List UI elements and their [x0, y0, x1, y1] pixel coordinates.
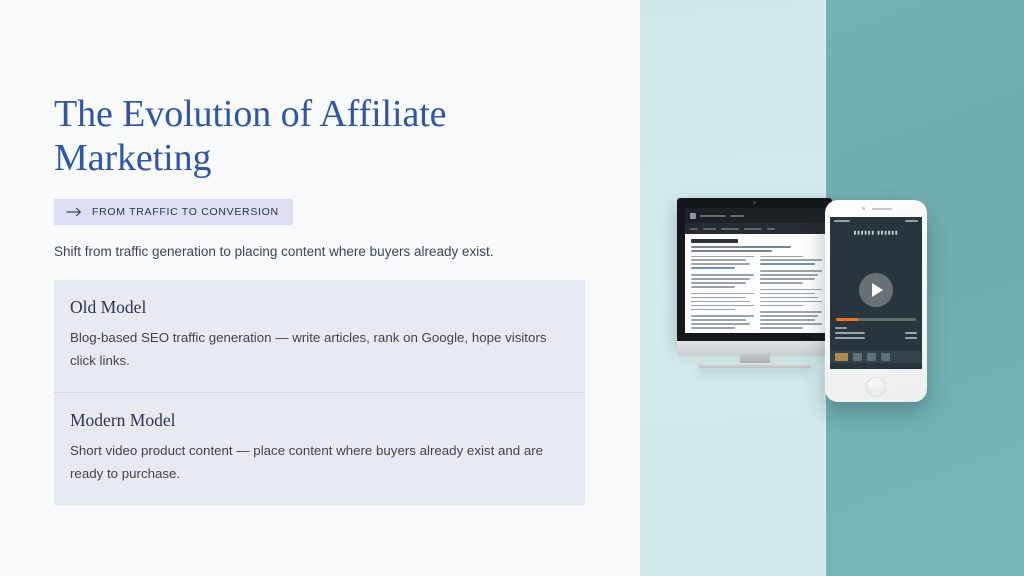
subnav-item — [703, 228, 716, 230]
meta-row — [835, 332, 917, 334]
page-title: The Evolution of Affiliate Marketing — [54, 92, 524, 180]
progress-bar[interactable] — [836, 318, 916, 321]
smartphone: ▮▮▮▮▮▮ ▮▮▮▮▮▮ — [825, 200, 927, 402]
text-line — [691, 323, 750, 325]
text-line — [691, 315, 754, 317]
text-line — [760, 305, 804, 307]
text-line — [691, 256, 754, 258]
text-line — [760, 270, 823, 272]
article-body — [685, 234, 828, 333]
text-line — [760, 282, 804, 284]
video-metadata — [830, 327, 922, 342]
play-icon — [872, 283, 883, 297]
text-line — [691, 297, 746, 299]
home-button[interactable] — [866, 377, 886, 397]
site-logo-icon — [690, 213, 696, 219]
text-line — [760, 274, 819, 276]
text-line — [691, 327, 735, 329]
phone-status-bar — [830, 217, 922, 225]
text-line — [691, 305, 754, 307]
video-title: ▮▮▮▮▮▮ ▮▮▮▮▮▮ — [830, 230, 922, 236]
text-line — [691, 263, 750, 265]
slide-root: The Evolution of Affiliate Marketing FRO… — [0, 0, 1024, 576]
meta-row — [835, 337, 917, 339]
carrier-indicator — [834, 220, 850, 222]
thumbnail-item[interactable] — [881, 353, 890, 361]
article-columns — [691, 256, 822, 334]
card-old-model: Old Model Blog-based SEO traffic generat… — [54, 280, 585, 392]
text-line — [760, 327, 804, 329]
text-line — [760, 297, 819, 299]
text-line — [760, 319, 815, 321]
badge-label: FROM TRAFFIC TO CONVERSION — [92, 206, 279, 218]
meta-label — [835, 327, 847, 329]
article-lead — [691, 246, 791, 248]
text-link — [691, 267, 735, 269]
thumbnail-item[interactable] — [867, 353, 876, 361]
card-body: Blog-based SEO traffic generation — writ… — [70, 327, 569, 372]
desktop-monitor — [677, 198, 832, 358]
text-line — [691, 301, 750, 303]
subnav-item — [744, 228, 762, 230]
media-panel: ▮▮▮▮▮▮ ▮▮▮▮▮▮ — [640, 0, 1024, 576]
nav-item — [700, 215, 726, 217]
subnav-item — [690, 228, 698, 230]
text-line — [760, 259, 823, 261]
eyebrow-badge: FROM TRAFFIC TO CONVERSION — [54, 199, 293, 225]
card-body: Short video product content — place cont… — [70, 440, 569, 485]
card-title: Modern Model — [70, 410, 569, 431]
thumbnail-item[interactable] — [835, 353, 848, 361]
monitor-bezel — [677, 198, 832, 341]
progress-fill — [836, 318, 858, 321]
text-link — [760, 263, 815, 265]
text-line — [691, 278, 750, 280]
monitor-stand-base — [699, 363, 811, 368]
monitor-camera-icon — [753, 201, 756, 204]
text-line — [691, 293, 754, 295]
text-line — [760, 315, 819, 317]
phone-top-bar — [825, 200, 927, 217]
text-line — [760, 278, 815, 280]
front-camera-icon — [862, 207, 865, 210]
subnav-item — [721, 228, 739, 230]
card-title: Old Model — [70, 297, 569, 318]
thumbnail-item[interactable] — [853, 353, 862, 361]
text-line — [691, 282, 746, 284]
article-column-left — [691, 256, 754, 334]
card-modern-model: Modern Model Short video product content… — [54, 392, 585, 505]
text-line — [760, 301, 823, 303]
play-button[interactable] — [859, 273, 893, 307]
site-navbar — [685, 208, 828, 223]
earpiece-speaker-icon — [872, 208, 892, 211]
text-line — [760, 256, 804, 258]
text-line — [691, 319, 746, 321]
text-line — [691, 274, 754, 276]
text-line — [691, 309, 735, 311]
arrow-right-icon — [66, 207, 83, 217]
text-line — [760, 289, 823, 291]
text-line — [760, 323, 823, 325]
content-column: The Evolution of Affiliate Marketing FRO… — [0, 0, 640, 576]
subtitle: Shift from traffic generation to placing… — [54, 242, 584, 262]
article-heading — [691, 239, 738, 243]
site-subnav — [685, 223, 828, 234]
phone-screen: ▮▮▮▮▮▮ ▮▮▮▮▮▮ — [830, 217, 922, 369]
subnav-item — [767, 228, 775, 230]
thumbnail-strip[interactable] — [830, 351, 922, 363]
battery-icon — [905, 220, 918, 223]
article-lead — [691, 250, 772, 252]
model-comparison-cards: Old Model Blog-based SEO traffic generat… — [54, 280, 585, 505]
nav-item — [730, 215, 744, 217]
text-line — [760, 293, 815, 295]
text-line — [691, 259, 746, 261]
text-line — [760, 311, 823, 313]
article-column-right — [760, 256, 823, 334]
monitor-screen — [685, 208, 828, 333]
text-line — [691, 286, 735, 288]
